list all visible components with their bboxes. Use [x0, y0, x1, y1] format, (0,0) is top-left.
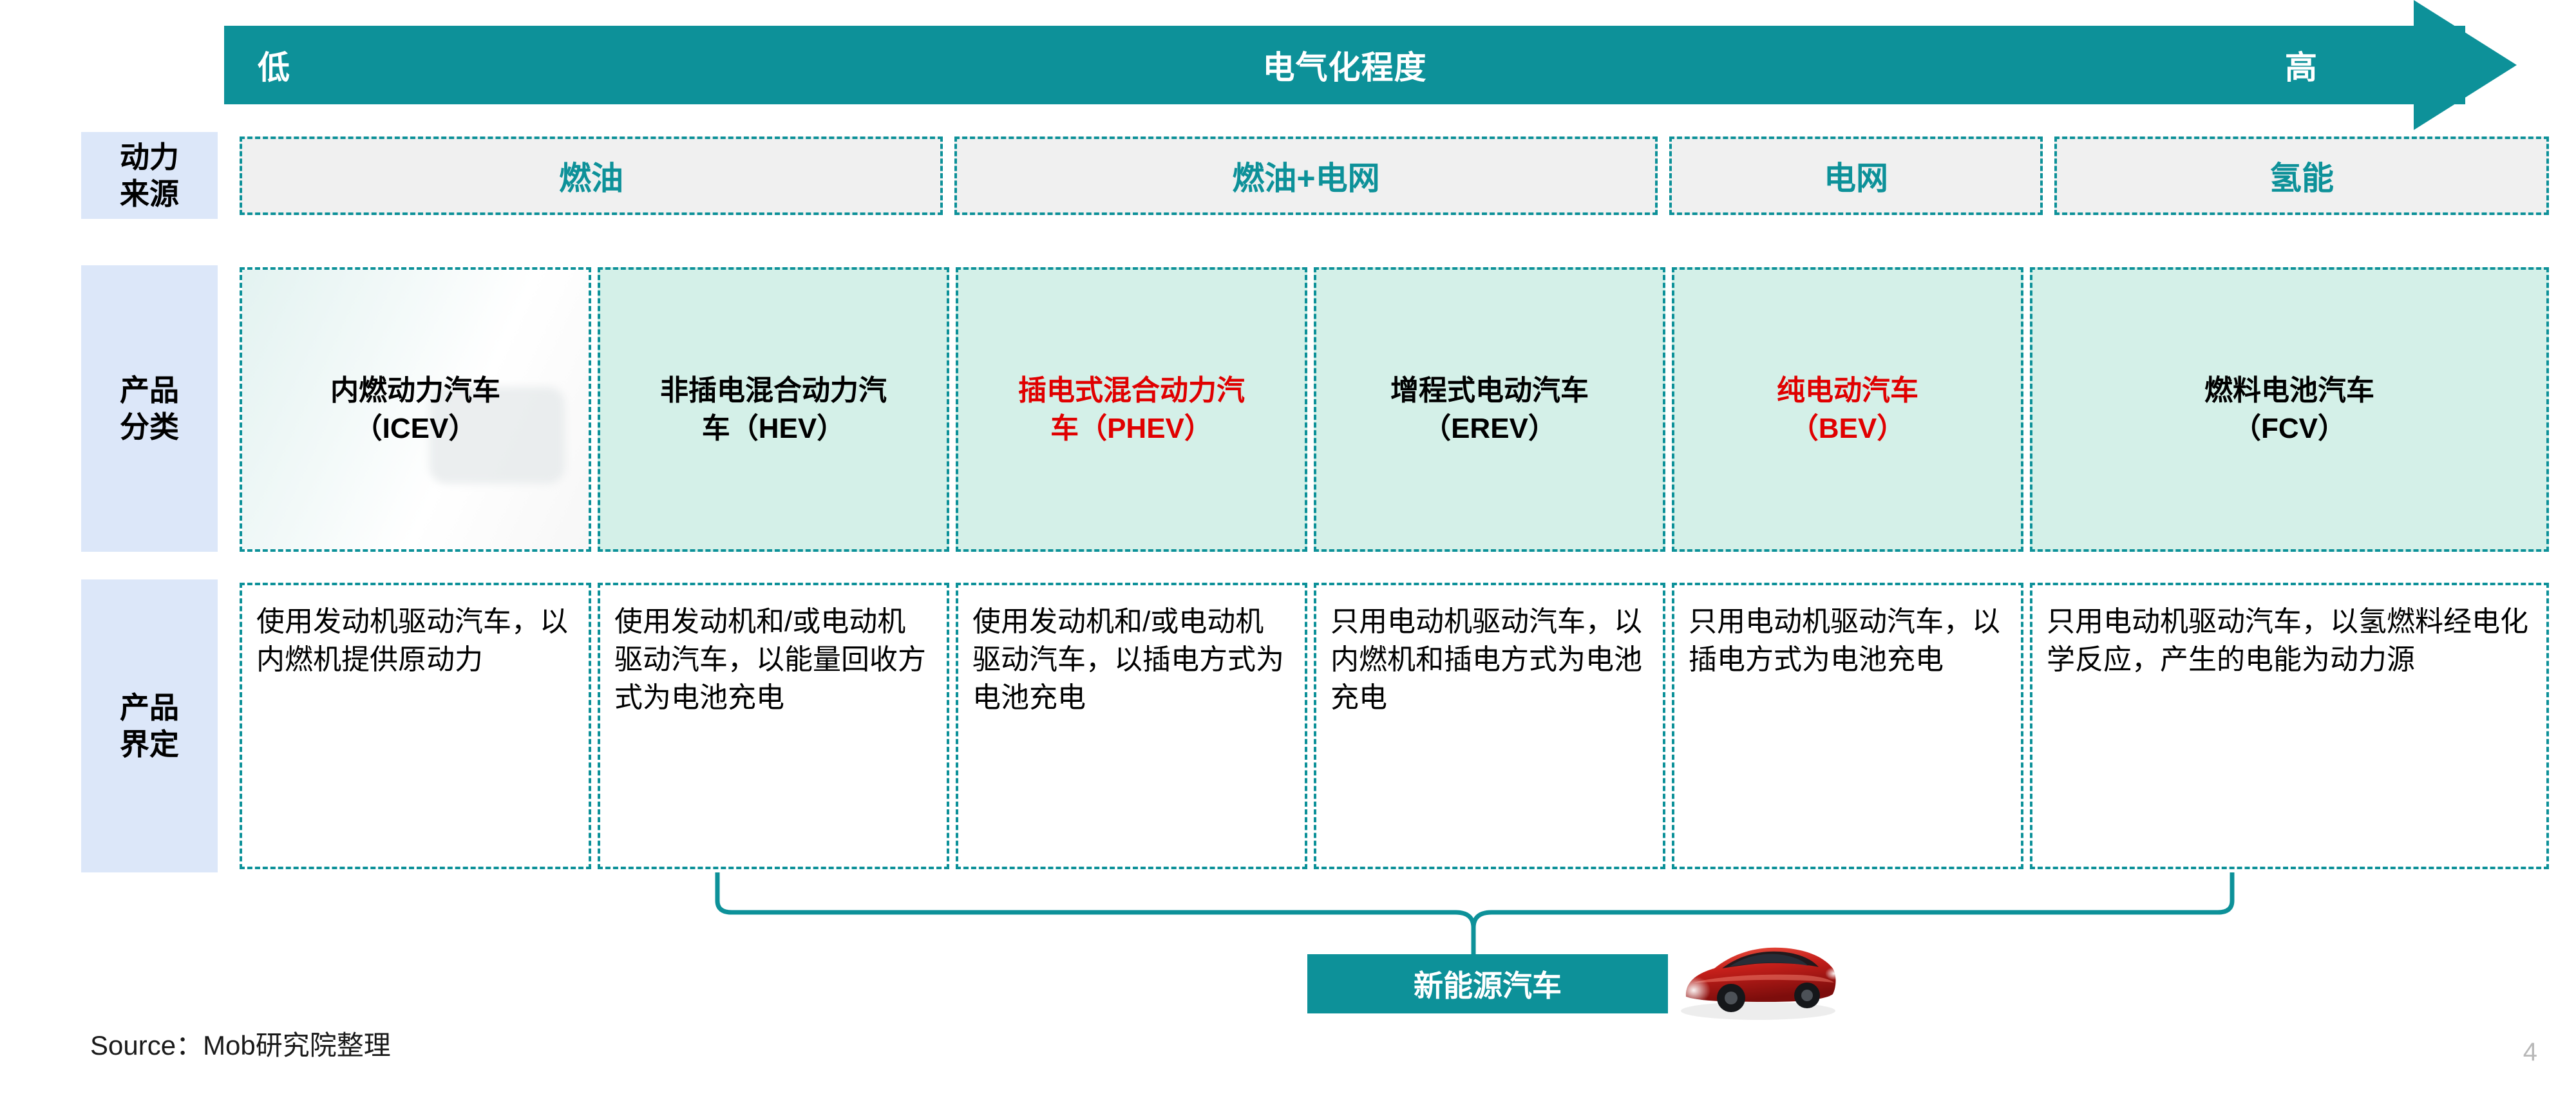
classification-cell-fcv: 燃料电池汽车 （FCV） — [2030, 267, 2549, 552]
slide-canvas: 低 电气化程度 高 动力 来源 产品 分类 产品 界定 燃油 燃油+电网 电网 … — [0, 0, 2576, 1101]
classification-name-fcv: 燃料电池汽车 — [2204, 375, 2374, 406]
red-sports-car-image — [1674, 935, 1842, 1022]
nev-brace-icon — [715, 872, 2235, 956]
row-label-definition-line1: 产品 — [120, 691, 179, 724]
row-label-classification-line2: 分类 — [120, 410, 179, 444]
arrow-high-label: 高 — [2285, 26, 2318, 104]
row-label-definition: 产品 界定 — [81, 579, 218, 872]
power-source-cell-hydrogen: 氢能 — [2054, 136, 2549, 215]
definition-cell-icev: 使用发动机驱动汽车，以内燃机提供原动力 — [240, 583, 591, 869]
row-label-definition-line2: 界定 — [120, 728, 179, 761]
classification-name-bev: 纯电动汽车 — [1777, 375, 1918, 406]
classification-abbr-icev: （ICEV） — [354, 413, 477, 444]
power-source-cell-grid: 电网 — [1669, 136, 2043, 215]
classification-name-erev: 增程式电动汽车 — [1390, 375, 1589, 406]
definition-cell-hev: 使用发动机和/或电动机驱动汽车，以能量回收方式为电池充电 — [598, 583, 949, 869]
source-note: Source：Mob研究院整理 — [90, 1024, 391, 1063]
definition-cell-erev: 只用电动机驱动汽车，以内燃机和插电方式为电池充电 — [1314, 583, 1665, 869]
electrification-arrow: 低 电气化程度 高 — [224, 26, 2549, 104]
page-number: 4 — [2523, 1038, 2537, 1067]
classification-name-icev: 内燃动力汽车 — [330, 375, 500, 406]
classification-cell-hev: 非插电混合动力汽 车（HEV） — [598, 267, 949, 552]
classification-name-phev: 插电式混合动力汽 — [1018, 375, 1245, 406]
power-source-cell-fuel: 燃油 — [240, 136, 943, 215]
definition-cell-fcv: 只用电动机驱动汽车，以氢燃料经电化学反应，产生的电能为动力源 — [2030, 583, 2549, 869]
row-label-power-source: 动力 来源 — [81, 132, 218, 219]
power-source-cell-fuel-grid: 燃油+电网 — [954, 136, 1658, 215]
classification-abbr-fcv: （FCV） — [2233, 413, 2346, 444]
arrow-title-label: 电气化程度 — [224, 26, 2465, 104]
classification-cell-bev: 纯电动汽车 （BEV） — [1672, 267, 2023, 552]
row-label-classification-line1: 产品 — [120, 373, 179, 407]
classification-abbr-erev: （EREV） — [1423, 413, 1557, 444]
classification-cell-icev: 内燃动力汽车 （ICEV） — [240, 267, 591, 552]
definition-cell-phev: 使用发动机和/或电动机驱动汽车，以插电方式为电池充电 — [956, 583, 1307, 869]
classification-name-hev: 非插电混合动力汽 — [660, 375, 887, 406]
classification-cell-erev: 增程式电动汽车 （EREV） — [1314, 267, 1665, 552]
nev-banner: 新能源汽车 — [1307, 954, 1668, 1013]
definition-cell-bev: 只用电动机驱动汽车，以插电方式为电池充电 — [1672, 583, 2023, 869]
classification-abbr-hev: 车（HEV） — [702, 413, 845, 444]
classification-abbr-phev: 车（PHEV） — [1050, 413, 1213, 444]
row-label-classification: 产品 分类 — [81, 265, 218, 552]
classification-cell-phev: 插电式混合动力汽 车（PHEV） — [956, 267, 1307, 552]
row-label-power-source-line1: 动力 — [120, 140, 179, 174]
row-label-power-source-line2: 来源 — [120, 177, 179, 211]
classification-abbr-bev: （BEV） — [1790, 413, 1905, 444]
